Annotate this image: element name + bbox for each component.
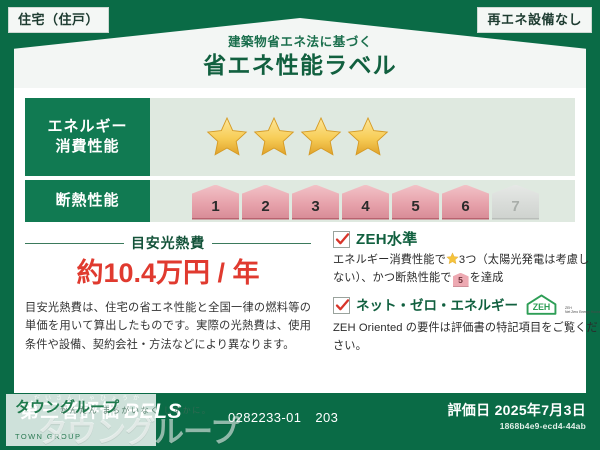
zeh-logo-caption: ZEH Net Zero Energy House [565, 306, 600, 317]
zeh-column: ZEH水準 エネルギー消費性能で3つ（太陽光発電は考慮しない）、かつ断熱性能で5… [321, 231, 600, 363]
insulation-level-number: 4 [361, 198, 369, 215]
title-subtitle: 建築物省エネ法に基づく [0, 36, 600, 49]
star-icon [205, 115, 249, 159]
cost-column: 目安光熱費 約10.4万円 / 年 目安光熱費は、住宅の省エネ性能と全国一律の燃… [25, 231, 321, 363]
badge-renewable-equipment: 再エネ設備なし [477, 7, 592, 33]
zeh-standard-description: エネルギー消費性能で3つ（太陽光発電は考慮しない）、かつ断熱性能で5を達成 [333, 252, 600, 287]
zeh-standard-title: ZEH水準 [356, 232, 418, 247]
zeh-house-logo-icon: ZEH [525, 294, 558, 316]
lower-section: 目安光熱費 約10.4万円 / 年 目安光熱費は、住宅の省エネ性能と全国一律の燃… [25, 231, 575, 363]
zeh-desc-part1: エネルギー消費性能で [333, 254, 446, 266]
bels-logo: 第三者評価 BELS [20, 401, 182, 422]
cost-heading: 目安光熱費 [131, 233, 205, 253]
zeh-standard-block: ZEH水準 エネルギー消費性能で3つ（太陽光発電は考慮しない）、かつ断熱性能で5… [333, 231, 600, 287]
check-icon [335, 298, 350, 313]
insulation-performance-value: 1 2 3 4 5 6 7 [150, 180, 575, 222]
insulation-level-badge: 2 [242, 185, 289, 218]
zeh-desc-part3: を達成 [470, 272, 504, 284]
rule-right [212, 243, 311, 244]
evaluation-date: 評価日 2025年7月3日 [447, 403, 586, 418]
insulation-level-number: 1 [211, 198, 219, 215]
evaluation-date-value: 2025年7月3日 [495, 402, 586, 418]
svg-text:ZEH: ZEH [533, 303, 551, 313]
insulation-level-number: 2 [261, 198, 269, 215]
insulation-level-badge: 3 [292, 185, 339, 218]
star-icon [252, 115, 296, 159]
main-panel: エネルギー 消費性能 断熱性能 1 2 3 [14, 88, 586, 393]
evaluation-hash: 1868b4e9-ecd4-44ab [447, 421, 586, 431]
bels-english-label: BELS [124, 401, 182, 422]
insulation-level-badge: 1 [192, 185, 239, 218]
insulation-level-scale: 1 2 3 4 5 6 7 [150, 185, 539, 218]
energy-performance-label: エネルギー 消費性能 [25, 98, 150, 176]
badge-building-type: 住宅（住戸） [8, 7, 109, 33]
energy-performance-label: 住宅（住戸） 再エネ設備なし 建築物省エネ法に基づく 省エネ性能ラベル エネルギ… [0, 0, 600, 450]
insulation-performance-row: 断熱性能 1 2 3 4 5 6 7 [25, 180, 575, 222]
insulation-level-number: 6 [461, 198, 469, 215]
energy-performance-value [150, 98, 575, 176]
certificate-number-value: 0282233-01 [228, 410, 301, 425]
title-block: 建築物省エネ法に基づく 省エネ性能ラベル [0, 36, 600, 77]
rule-left [25, 243, 124, 244]
evaluation-date-label: 評価日 [447, 402, 490, 418]
cost-heading-row: 目安光熱費 [25, 233, 311, 253]
energy-label-line1: エネルギー [47, 117, 127, 137]
star-icon [346, 115, 390, 159]
net-zero-energy-title: ネット・ゼロ・エネルギー [356, 299, 518, 313]
insulation-level-badge: 6 [442, 185, 489, 218]
net-zero-energy-checkbox[interactable] [333, 297, 350, 314]
cost-note: 目安光熱費は、住宅の省エネ性能と全国一律の燃料等の単価を用いて算出したものです。… [25, 299, 311, 353]
insulation-level-number: 3 [311, 198, 319, 215]
cost-amount: 約10.4万円 / 年 [25, 259, 311, 287]
energy-label-line2: 消費性能 [47, 137, 127, 157]
certificate-number: 0282233-01203 [228, 410, 338, 425]
footer-bar: 第三者評価 BELS だいさんしゃひょうか 0282233-01203 評価日 … [0, 393, 600, 450]
insulation-level-badge: 5 [392, 185, 439, 218]
inline-insulation-badge: 5 [453, 273, 469, 286]
insulation-level-badge: 7 [492, 185, 539, 218]
energy-performance-row: エネルギー 消費性能 [25, 98, 575, 176]
net-zero-energy-block: ネット・ゼロ・エネルギー ZEH ZEH Net Zero Energy Hou… [333, 294, 600, 355]
zeh-standard-header: ZEH水準 [333, 231, 600, 248]
page-title: 省エネ性能ラベル [0, 54, 600, 77]
star-icon [446, 252, 459, 265]
insulation-performance-label: 断熱性能 [25, 180, 150, 222]
star-rating [150, 115, 390, 159]
inline-level-number: 5 [458, 275, 463, 285]
insulation-level-badge: 4 [342, 185, 389, 218]
zeh-logo-caption-line2: Net Zero Energy House [565, 310, 600, 314]
bels-ruby-text: だいさんしゃひょうか [34, 393, 144, 402]
bels-japanese-label: 第三者評価 [20, 402, 120, 421]
certificate-unit-value: 203 [315, 410, 338, 425]
evaluation-info: 評価日 2025年7月3日 1868b4e9-ecd4-44ab [447, 403, 586, 431]
net-zero-energy-header: ネット・ゼロ・エネルギー ZEH ZEH Net Zero Energy Hou… [333, 294, 600, 316]
insulation-level-number: 5 [411, 198, 419, 215]
star-icon [299, 115, 343, 159]
net-zero-energy-description: ZEH Oriented の要件は評価書の特記項目をご覧ください。 [333, 320, 600, 355]
zeh-standard-checkbox[interactable] [333, 231, 350, 248]
check-icon [335, 232, 350, 247]
insulation-level-number: 7 [511, 198, 519, 215]
